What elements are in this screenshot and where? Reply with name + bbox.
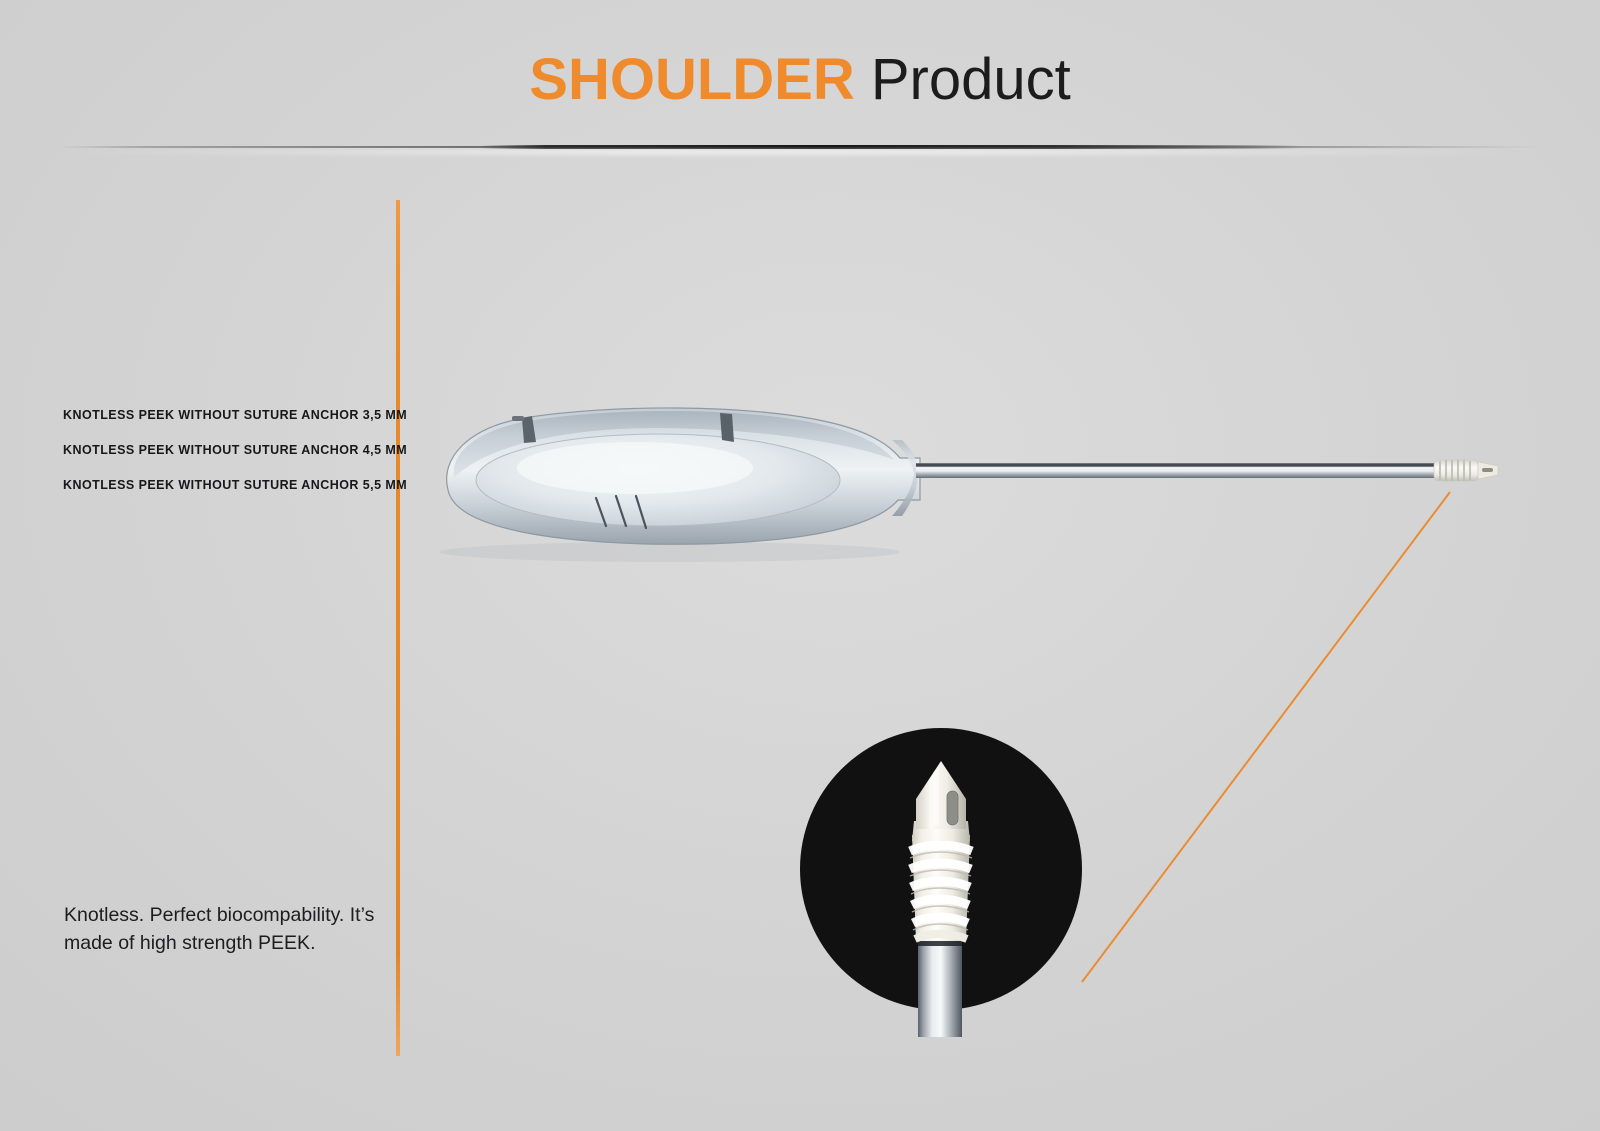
page-title-strong: SHOULDER	[529, 47, 854, 112]
page-title-rest: Product	[855, 47, 1071, 112]
anchor-tip-highlight	[933, 767, 939, 825]
product-image	[420, 380, 1530, 570]
handle-inner-highlight	[517, 442, 753, 494]
description-line-1: Knotless. Perfect biocompability. It’s	[64, 902, 384, 930]
metal-shaft	[916, 463, 1436, 478]
detail-shaft-dark-band	[918, 941, 962, 946]
header-divider-highlight	[60, 149, 1540, 155]
anchor-tip-closeup	[800, 717, 1082, 1037]
handle-notch-right	[720, 413, 734, 442]
spec-item-0: KNOTLESS PEEK WITHOUT SUTURE ANCHOR 3,5 …	[63, 408, 383, 422]
threaded-anchor-tip	[1434, 460, 1498, 481]
product-sheet-page: SHOULDER Product KNOTLESS PEEK WITHOUT S…	[0, 0, 1600, 1131]
product-description: Knotless. Perfect biocompability. It’s m…	[64, 902, 384, 957]
vertical-accent-divider	[396, 200, 400, 1056]
page-title: SHOULDER Product	[0, 48, 1600, 112]
tip-eyelet	[1482, 468, 1493, 472]
handle-notch-left-slot	[512, 416, 524, 421]
spec-item-1: KNOTLESS PEEK WITHOUT SUTURE ANCHOR 4,5 …	[63, 443, 383, 457]
anchor-suture-eyelet	[947, 791, 958, 825]
description-line-2: made of high strength PEEK.	[64, 930, 384, 958]
detail-shaft-extension	[918, 1007, 962, 1037]
header-divider	[60, 145, 1540, 148]
product-shadow	[440, 542, 900, 562]
spec-list: KNOTLESS PEEK WITHOUT SUTURE ANCHOR 3,5 …	[63, 408, 383, 513]
metal-shaft-highlight	[916, 467, 1436, 470]
spec-item-2: KNOTLESS PEEK WITHOUT SUTURE ANCHOR 5,5 …	[63, 478, 383, 492]
